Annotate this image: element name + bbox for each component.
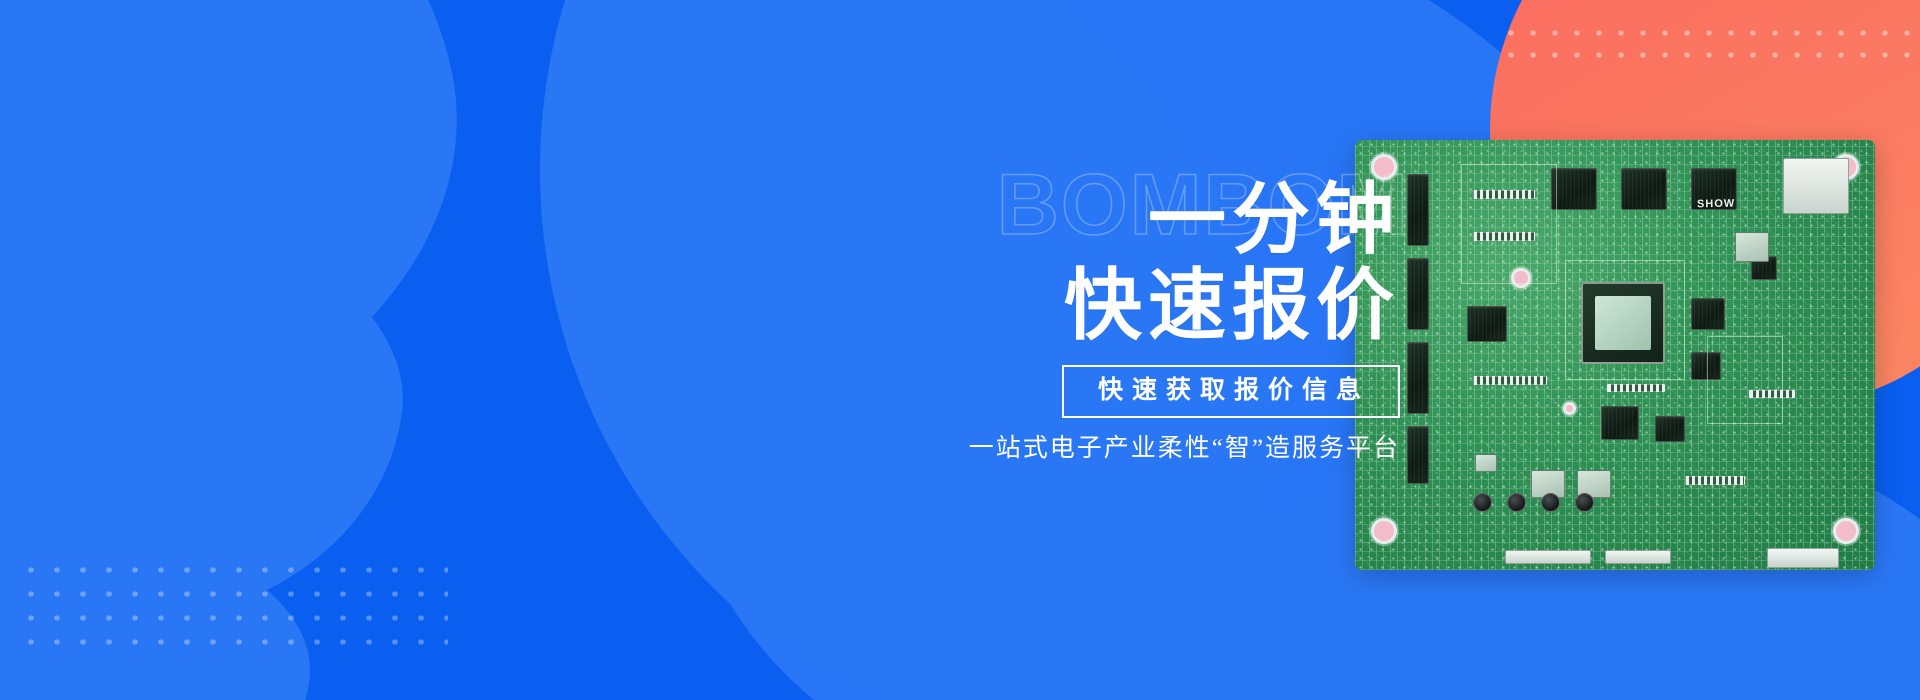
pcb-memory-chip	[1407, 174, 1429, 246]
cta-button-label: 快速获取报价信息	[1092, 378, 1370, 403]
pcb-electrolytic-capacitor	[1541, 493, 1560, 512]
pcb-silkscreen-outline	[1461, 164, 1557, 284]
pcb-electrolytic-capacitor	[1507, 493, 1526, 512]
headline-line-1: 一分钟	[640, 180, 1400, 260]
pcb-ic-chip	[1551, 168, 1597, 210]
pcb-ic-chip	[1621, 168, 1667, 210]
pcb-memory-chip	[1407, 258, 1429, 330]
background-blob-left-large	[0, 0, 516, 532]
pcb-circuit-board-image: SHOW	[1355, 140, 1875, 570]
pcb-via-pad	[1563, 402, 1576, 415]
pcb-pin-header	[1473, 376, 1547, 385]
banner-subtitle: 一站式电子产业柔性“智”造服务平台	[640, 434, 1400, 464]
pcb-mounting-pad	[1833, 518, 1859, 544]
pcb-ic-chip	[1691, 298, 1725, 330]
pcb-mounting-pad	[1371, 518, 1397, 544]
pcb-inductor	[1475, 454, 1497, 472]
pcb-board-substrate: SHOW	[1355, 140, 1875, 570]
pcb-ic-chip	[1467, 306, 1507, 342]
pcb-electrolytic-capacitor	[1473, 493, 1492, 512]
background-blob-left-lower	[0, 520, 310, 700]
pcb-edge-connector	[1605, 550, 1671, 564]
headline-line-2: 快速报价	[640, 266, 1400, 346]
pcb-ic-chip	[1601, 406, 1639, 440]
pcb-silkscreen-outline	[1707, 336, 1783, 424]
banner-text-block: BOMBOM 一分钟 快速报价 快速获取报价信息 一站式电子产业柔性“智”造服务…	[640, 180, 1400, 464]
cta-button[interactable]: 快速获取报价信息	[1062, 365, 1400, 418]
dot-grid-bottom-left	[18, 558, 448, 654]
pcb-silkscreen-logo: SHOW	[1697, 198, 1735, 211]
pcb-electrolytic-capacitor	[1575, 493, 1594, 512]
promo-banner: SHOW BOMBOM 一分钟 快速报价 快速获取报价信息 一站式电子产业柔性“…	[0, 0, 1920, 700]
pcb-card-slot-connector	[1783, 158, 1849, 214]
pcb-pin-header	[1685, 476, 1745, 485]
pcb-inductor	[1735, 232, 1769, 262]
pcb-memory-chip	[1407, 342, 1429, 414]
pcb-edge-connector	[1505, 550, 1591, 564]
background-blob-left-middle	[0, 149, 427, 661]
pcb-edge-connector	[1767, 548, 1839, 568]
pcb-memory-chip	[1407, 426, 1429, 484]
pcb-ic-chip	[1655, 416, 1685, 442]
pcb-pin-header	[1607, 384, 1665, 392]
pcb-silkscreen-outline	[1565, 260, 1685, 380]
